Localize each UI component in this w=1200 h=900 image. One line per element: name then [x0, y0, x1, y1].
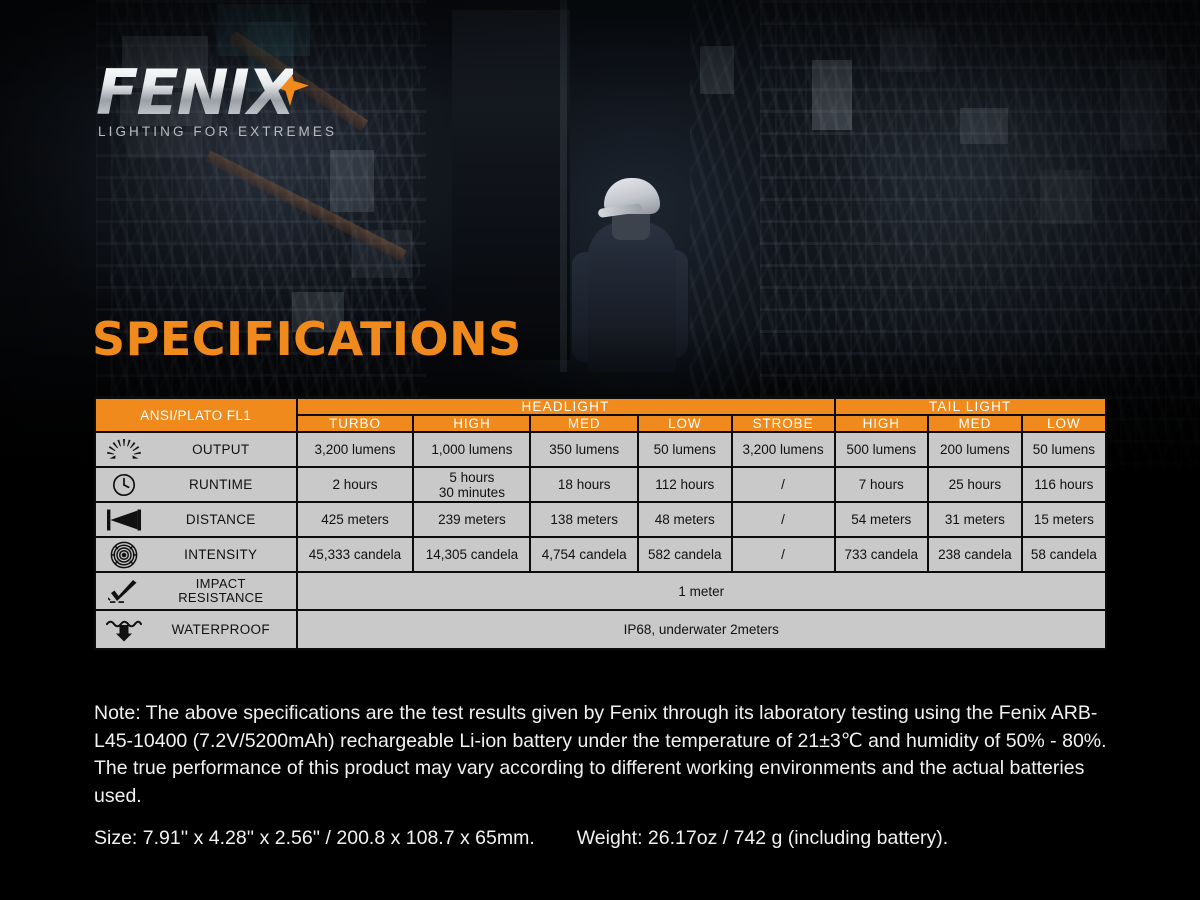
row-label-distance: DISTANCE [96, 503, 296, 536]
page-title: SPECIFICATIONS [92, 316, 522, 362]
cell-runtime-tail-high: 7 hours [836, 468, 928, 501]
header-group-taillight: TAIL LIGHT [836, 399, 1106, 414]
cell-intensity-turbo: 45,333 candela [298, 538, 413, 571]
clock-icon [96, 473, 152, 497]
cell-runtime-turbo: 2 hours [298, 468, 413, 501]
beam-distance-icon [96, 509, 152, 531]
cell-runtime-tail-low: 116 hours [1023, 468, 1105, 501]
header-mode-tail-low: LOW [1023, 416, 1105, 431]
cell-intensity-strobe: / [733, 538, 834, 571]
size-weight-line: Size: 7.91'' x 4.28'' x 2.56'' / 200.8 x… [94, 827, 1114, 850]
table-row: INTENSITY 45,333 candela 14,305 candela … [96, 538, 1105, 571]
cell-impact-resistance-value: 1 meter [298, 573, 1106, 609]
cell-output-med: 350 lumens [531, 433, 637, 466]
cell-distance-tail-low: 15 meters [1023, 503, 1105, 536]
size-text: Size: 7.91'' x 4.28'' x 2.56'' / 200.8 x… [94, 827, 535, 849]
cell-distance-tail-high: 54 meters [836, 503, 928, 536]
row-label-text: IMPACT RESISTANCE [152, 577, 296, 606]
impact-check-icon [96, 579, 152, 603]
cell-output-tail-low: 50 lumens [1023, 433, 1105, 466]
row-label-text: OUTPUT [152, 442, 296, 457]
row-label-text: WATERPROOF [152, 622, 296, 637]
table-row: WATERPROOF IP68, underwater 2meters [96, 611, 1105, 648]
cell-intensity-low: 582 candela [639, 538, 731, 571]
note-text: Note: The above specifications are the t… [94, 700, 1114, 811]
header-ansi-plato: ANSI/PLATO FL1 [96, 399, 296, 431]
specifications-table: ANSI/PLATO FL1 HEADLIGHT TAIL LIGHT TURB… [94, 397, 1107, 650]
row-label-output: OUTPUT [96, 433, 296, 466]
cell-distance-strobe: / [733, 503, 834, 536]
header-mode-turbo: TURBO [298, 416, 413, 431]
cell-distance-turbo: 425 meters [298, 503, 413, 536]
row-label-intensity: INTENSITY [96, 538, 296, 571]
header-mode-med: MED [531, 416, 637, 431]
row-label-text: RUNTIME [152, 477, 296, 492]
intensity-target-icon [96, 541, 152, 569]
cell-intensity-tail-low: 58 candela [1023, 538, 1105, 571]
row-label-impact-resistance: IMPACT RESISTANCE [96, 573, 296, 609]
cell-distance-high: 239 meters [414, 503, 529, 536]
cell-distance-med: 138 meters [531, 503, 637, 536]
header-mode-high: HIGH [414, 416, 529, 431]
cell-output-tail-med: 200 lumens [929, 433, 1021, 466]
waterproof-icon [96, 618, 152, 642]
cell-intensity-high: 14,305 candela [414, 538, 529, 571]
table-row: DISTANCE 425 meters 239 meters 138 meter… [96, 503, 1105, 536]
weight-text: Weight: 26.17oz / 742 g (including batte… [577, 827, 948, 849]
logo-wordmark: FENIX [96, 62, 293, 124]
cell-output-strobe: 3,200 lumens [733, 433, 834, 466]
sunburst-icon [96, 439, 152, 461]
header-mode-tail-med: MED [929, 416, 1021, 431]
table-row: IMPACT RESISTANCE 1 meter [96, 573, 1105, 609]
row-label-waterproof: WATERPROOF [96, 611, 296, 648]
row-label-text: DISTANCE [152, 512, 296, 527]
table-row: RUNTIME 2 hours 5 hours 30 minutes 18 ho… [96, 468, 1105, 501]
row-label-text: INTENSITY [152, 547, 296, 562]
cell-output-tail-high: 500 lumens [836, 433, 928, 466]
cell-output-high: 1,000 lumens [414, 433, 529, 466]
cell-waterproof-value: IP68, underwater 2meters [298, 611, 1106, 648]
cell-runtime-high: 5 hours 30 minutes [414, 468, 529, 501]
table-row: OUTPUT 3,200 lumens 1,000 lumens 350 lum… [96, 433, 1105, 466]
cell-output-low: 50 lumens [639, 433, 731, 466]
cell-intensity-tail-med: 238 candela [929, 538, 1021, 571]
logo-tagline: LIGHTING FOR EXTREMES [98, 124, 337, 139]
cell-distance-low: 48 meters [639, 503, 731, 536]
table-header-group-row: ANSI/PLATO FL1 HEADLIGHT TAIL LIGHT [96, 399, 1105, 414]
cell-runtime-med: 18 hours [531, 468, 637, 501]
cell-runtime-low: 112 hours [639, 468, 731, 501]
header-group-headlight: HEADLIGHT [298, 399, 834, 414]
header-mode-low: LOW [639, 416, 731, 431]
row-label-runtime: RUNTIME [96, 468, 296, 501]
cell-runtime-strobe: / [733, 468, 834, 501]
cell-intensity-med: 4,754 candela [531, 538, 637, 571]
cell-intensity-tail-high: 733 candela [836, 538, 928, 571]
cell-distance-tail-med: 31 meters [929, 503, 1021, 536]
cell-output-turbo: 3,200 lumens [298, 433, 413, 466]
fenix-logo: FENIX LIGHTING FOR EXTREMES [96, 62, 396, 144]
header-mode-strobe: STROBE [733, 416, 834, 431]
header-mode-tail-high: HIGH [836, 416, 928, 431]
cell-runtime-tail-med: 25 hours [929, 468, 1021, 501]
